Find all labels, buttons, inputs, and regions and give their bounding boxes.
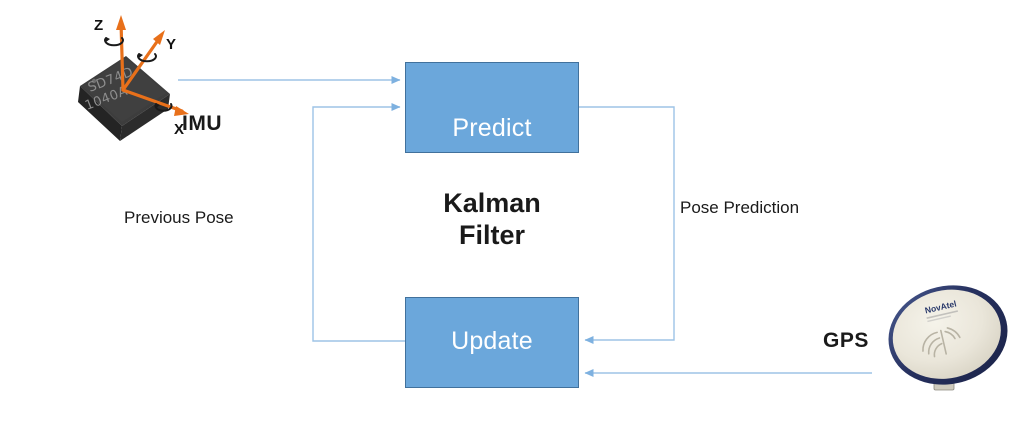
pose-prediction-label: Pose Prediction (680, 198, 799, 218)
y-axis-label: Y (166, 36, 176, 53)
connector-pose-prediction (579, 107, 674, 340)
imu-label: IMU (182, 112, 222, 137)
connector-previous-pose-feedback (313, 107, 405, 341)
previous-pose-label: Previous Pose (124, 208, 234, 228)
kalman-filter-title-line2: Filter (405, 220, 579, 252)
diagram-canvas: SD74D 1040A Z Y X (0, 0, 1024, 448)
update-block[interactable]: Update (405, 297, 579, 388)
update-block-label: Update (451, 329, 533, 354)
gps-label: GPS (823, 329, 869, 354)
kalman-filter-title: Kalman Filter (405, 188, 579, 252)
predict-block[interactable]: Predict (405, 62, 579, 153)
predict-block-label: Predict (452, 116, 531, 141)
kalman-filter-title-line1: Kalman (443, 188, 541, 218)
imu-chip: SD74D 1040A Z Y X (58, 8, 193, 143)
gps-antenna: NovAtel (876, 283, 1024, 396)
z-axis-label: Z (94, 17, 103, 34)
